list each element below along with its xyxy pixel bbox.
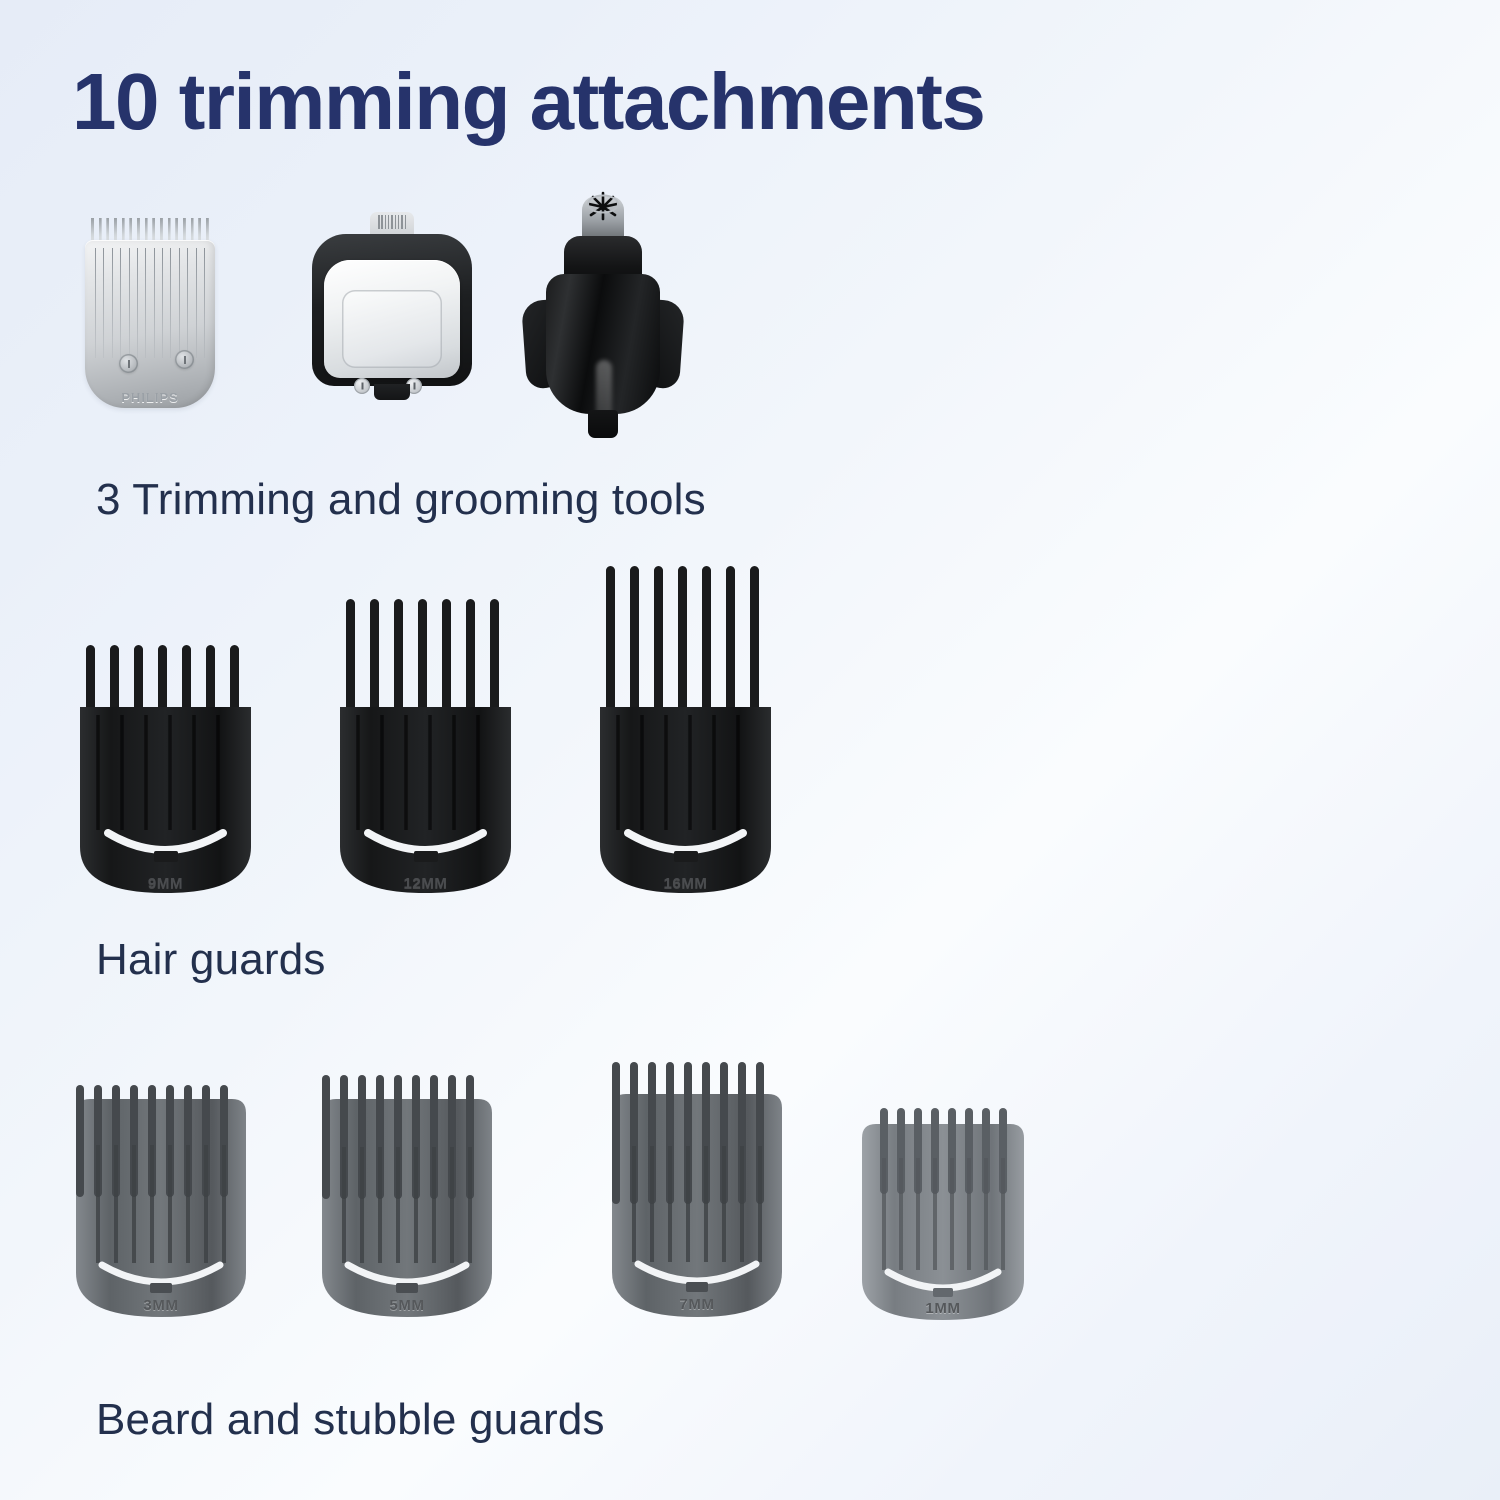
beard-guard-7mm: 7MM <box>608 1062 786 1325</box>
detail-trimmer-foot <box>374 384 410 400</box>
beard-guard-3mm: 3MM <box>72 1085 250 1325</box>
beard-guard-5mm: 5MM <box>318 1075 496 1325</box>
philips-logo: PHILIPS <box>85 390 215 405</box>
hair-guard-16mm: 16MM <box>598 552 773 905</box>
screw-icon <box>119 354 138 373</box>
nose-ear-trimmer-attachment <box>520 196 685 446</box>
nose-trimmer-foot <box>588 410 618 438</box>
page-title: 10 trimming attachments <box>72 62 984 142</box>
infographic-page: 10 trimming attachments PHILIPS <box>0 0 1500 1500</box>
detail-trimmer-shell <box>312 234 472 386</box>
trimmer-blade-attachment: PHILIPS <box>85 218 215 408</box>
hair-guard-9mm: 9MM <box>78 615 253 905</box>
detail-trimmer-face <box>324 260 460 378</box>
beard-guard-1mm: 1MM <box>858 1108 1028 1326</box>
screw-icon <box>354 378 370 394</box>
blade-grooves <box>95 248 205 358</box>
caption-beard-guards: Beard and stubble guards <box>96 1398 605 1442</box>
detail-trimmer-inset-panel <box>342 290 442 368</box>
blade-body: PHILIPS <box>85 240 215 408</box>
starburst-cutter-icon <box>578 190 628 224</box>
detail-blade-teeth <box>378 215 406 229</box>
caption-trimming-tools: 3 Trimming and grooming tools <box>96 478 706 522</box>
caption-hair-guards: Hair guards <box>96 938 326 982</box>
hair-guard-12mm: 12MM <box>338 585 513 905</box>
detail-trimmer-attachment <box>312 212 472 427</box>
screw-icon <box>175 350 194 369</box>
nose-trimmer-body <box>546 274 660 414</box>
